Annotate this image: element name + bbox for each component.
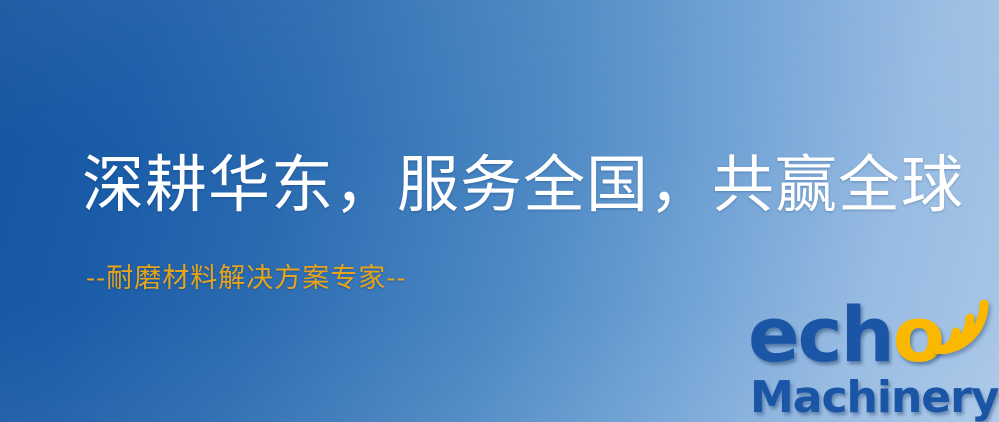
banner-subtitle: --耐磨材料解决方案专家-- (86, 264, 407, 294)
banner-headline: 深耕华东，服务全国，共赢全球 (82, 152, 964, 217)
echo-machinery-logo[interactable]: echo Machinery® (748, 296, 994, 420)
logo-wordmark: Machinery® (750, 366, 999, 422)
logo-wordmark-text: Machinery (750, 372, 999, 422)
signal-waves-icon (934, 292, 996, 354)
hero-banner: 深耕华东，服务全国，共赢全球 --耐磨材料解决方案专家-- echo Machi… (0, 0, 999, 422)
